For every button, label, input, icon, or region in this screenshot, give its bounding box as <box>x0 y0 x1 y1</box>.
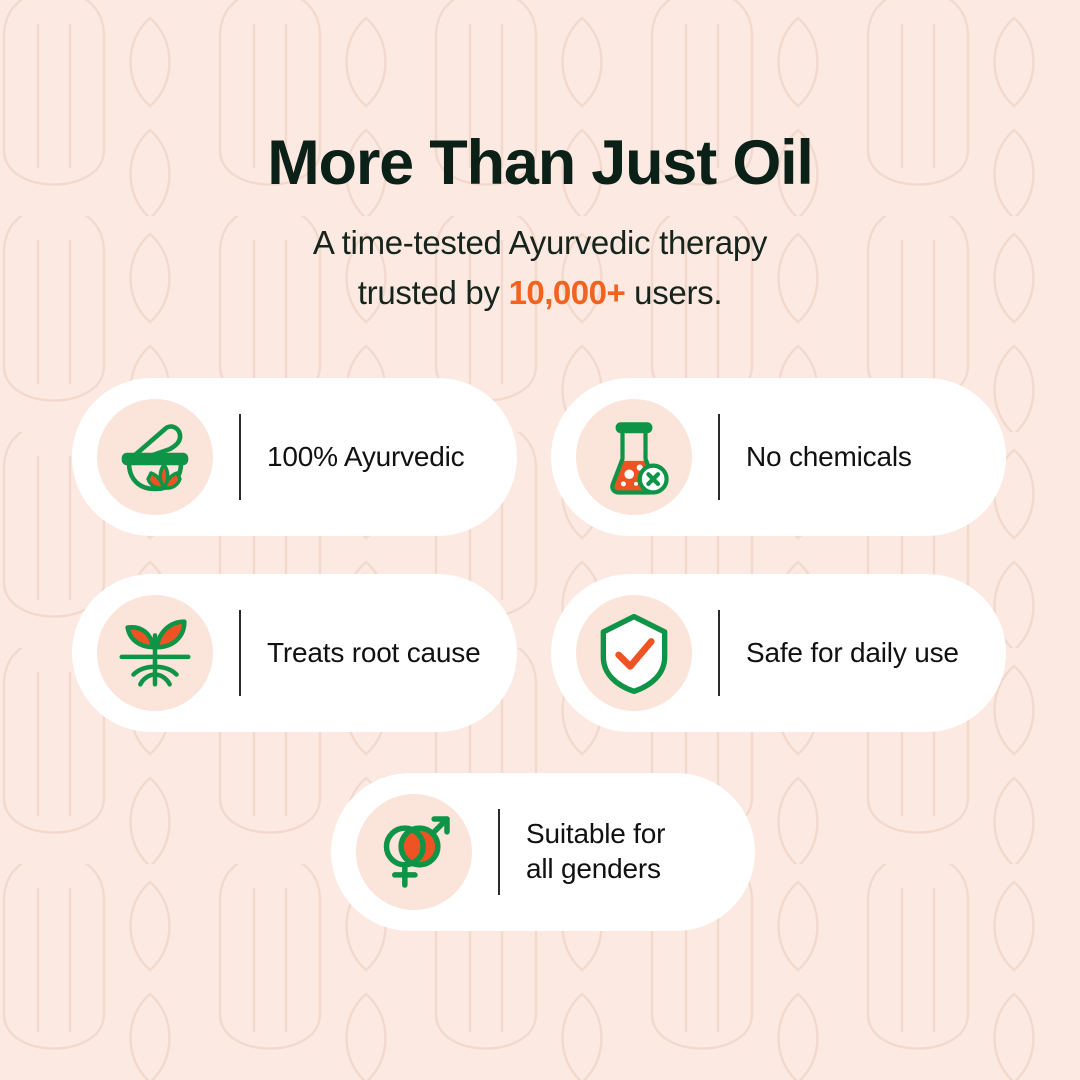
sprout-roots-icon <box>97 595 213 711</box>
feature-card-ayurvedic[interactable]: 100% Ayurvedic <box>72 378 517 536</box>
feature-card-no-chemicals[interactable]: No chemicals <box>551 378 1006 536</box>
card-divider <box>718 414 720 500</box>
subtitle-line-2: trusted by 10,000+ users. <box>0 268 1080 318</box>
flask-no-chemicals-icon <box>576 399 692 515</box>
feature-card-daily-use[interactable]: Safe for daily use <box>551 574 1006 732</box>
feature-label-all-genders: Suitable for all genders <box>526 817 665 886</box>
card-divider <box>498 809 500 895</box>
subtitle-prefix: trusted by <box>358 274 509 311</box>
shield-check-icon <box>576 595 692 711</box>
feature-label-daily-use: Safe for daily use <box>746 636 959 671</box>
subtitle-suffix: users. <box>625 274 722 311</box>
feature-label-line-1: Suitable for <box>526 817 665 852</box>
feature-card-all-genders[interactable]: Suitable for all genders <box>331 773 755 931</box>
feature-card-root-cause[interactable]: Treats root cause <box>72 574 517 732</box>
feature-label-root-cause: Treats root cause <box>267 636 480 671</box>
feature-label-no-chemicals: No chemicals <box>746 440 912 475</box>
card-divider <box>718 610 720 696</box>
gender-symbols-icon <box>356 794 472 910</box>
subtitle-line-1: A time-tested Ayurvedic therapy <box>0 218 1080 268</box>
page-subtitle: A time-tested Ayurvedic therapy trusted … <box>0 218 1080 318</box>
feature-label-ayurvedic: 100% Ayurvedic <box>267 440 464 475</box>
hero-header: More Than Just Oil A time-tested Ayurved… <box>0 0 1080 318</box>
card-divider <box>239 610 241 696</box>
user-count-badge: 10,000+ <box>509 274 626 311</box>
page-title: More Than Just Oil <box>0 130 1080 196</box>
card-divider <box>239 414 241 500</box>
feature-label-line-2: all genders <box>526 852 665 887</box>
mortar-pestle-icon <box>97 399 213 515</box>
